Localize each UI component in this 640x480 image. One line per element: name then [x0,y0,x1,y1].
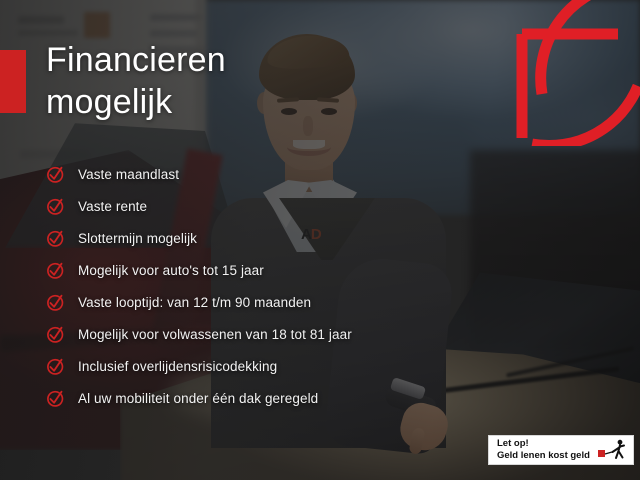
feature-item: Vaste looptijd: van 12 t/m 90 maanden [46,286,566,318]
afm-warning-line-1: Let op! [497,438,590,450]
afm-figure-head [618,440,623,445]
feature-item: Vaste maandlast [46,158,566,190]
check-circle-icon [46,389,65,408]
check-circle-icon [46,197,65,216]
feature-label: Slottermijn mogelijk [78,231,197,246]
afm-warning-badge: Let op! Geld lenen kost geld [488,435,634,465]
headline-line-1: Financieren [46,41,226,79]
check-circle-icon [46,261,65,280]
feature-label: Mogelijk voor volwassenen van 18 tot 81 … [78,327,352,342]
check-mark [50,391,61,402]
feature-label: Vaste rente [78,199,147,214]
check-mark [50,231,61,242]
check-circle-icon [46,165,65,184]
check-mark [50,167,61,178]
check-circle-icon [46,293,65,312]
check-mark [50,359,61,370]
headline-line-2: mogelijk [46,82,476,124]
feature-item: Mogelijk voor volwassenen van 18 tot 81 … [46,318,566,350]
feature-label: Vaste looptijd: van 12 t/m 90 maanden [78,295,311,310]
check-circle-icon [46,229,65,248]
afm-warning-line-2: Geld lenen kost geld [497,450,590,462]
feature-item: Slottermijn mogelijk [46,222,566,254]
check-circle-icon [46,325,65,344]
feature-label: Inclusief overlijdensrisicodekking [78,359,277,374]
feature-label: Vaste maandlast [78,167,179,182]
feature-list: Vaste maandlastVaste renteSlottermijn mo… [46,158,566,414]
feature-label: Al uw mobiliteit onder één dak geregeld [78,391,318,406]
feature-label: Mogelijk voor auto's tot 15 jaar [78,263,264,278]
financing-banner: AD Financieren mogelijk Vaste maandlastV… [0,0,640,480]
afm-figure-body [613,445,625,458]
check-mark [50,263,61,274]
check-circle-icon [46,357,65,376]
check-mark [50,295,61,306]
check-mark [50,327,61,338]
red-accent-block [0,50,26,113]
feature-item: Inclusief overlijdensrisicodekking [46,350,566,382]
feature-item: Vaste rente [46,190,566,222]
feature-item: Al uw mobiliteit onder één dak geregeld [46,382,566,414]
afm-warning-text: Let op! Geld lenen kost geld [497,438,590,462]
afm-walking-figure-icon [598,439,628,461]
check-mark [50,199,61,210]
feature-item: Mogelijk voor auto's tot 15 jaar [46,254,566,286]
page-title: Financieren mogelijk [46,40,476,124]
afm-rope [605,452,612,454]
afm-red-block [598,450,605,457]
